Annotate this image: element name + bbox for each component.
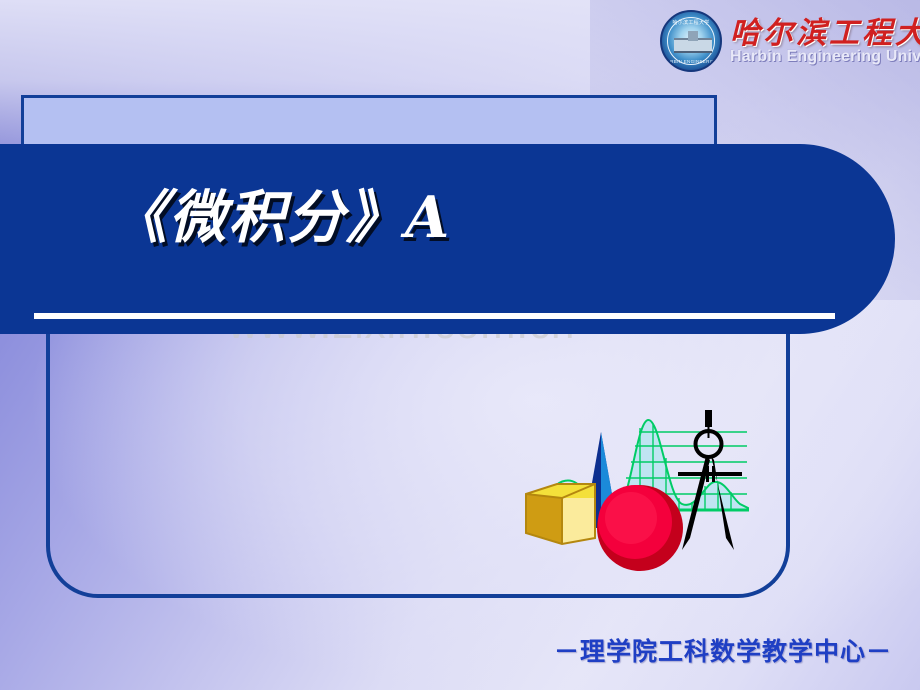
banner-underline [34,313,835,319]
seal-tower-shape [688,31,698,41]
presentation-slide: 哈尔滨工程大学 HARBIN ENGINEERING 哈尔滨工程大学 Harbi… [0,0,920,690]
university-logo: 哈尔滨工程大学 HARBIN ENGINEERING 哈尔滨工程大学 Harbi… [660,6,910,78]
university-seal-icon: 哈尔滨工程大学 HARBIN ENGINEERING [660,10,722,72]
seal-bottom-text: HARBIN ENGINEERING [662,59,720,64]
compass-tool [678,410,742,550]
university-name-english: Harbin Engineering University [730,48,920,66]
sphere-shape [597,485,683,571]
slide-title: 《微积分》A [110,172,630,254]
math-shapes-illustration [500,398,780,588]
seal-top-text: 哈尔滨工程大学 [662,19,720,26]
upper-decorative-panel [21,95,717,149]
university-name-chinese: 哈尔滨工程大学 [730,8,920,52]
footer-text: －理学院工科数学教学中心－ [554,632,892,668]
cube-shape [526,484,595,544]
